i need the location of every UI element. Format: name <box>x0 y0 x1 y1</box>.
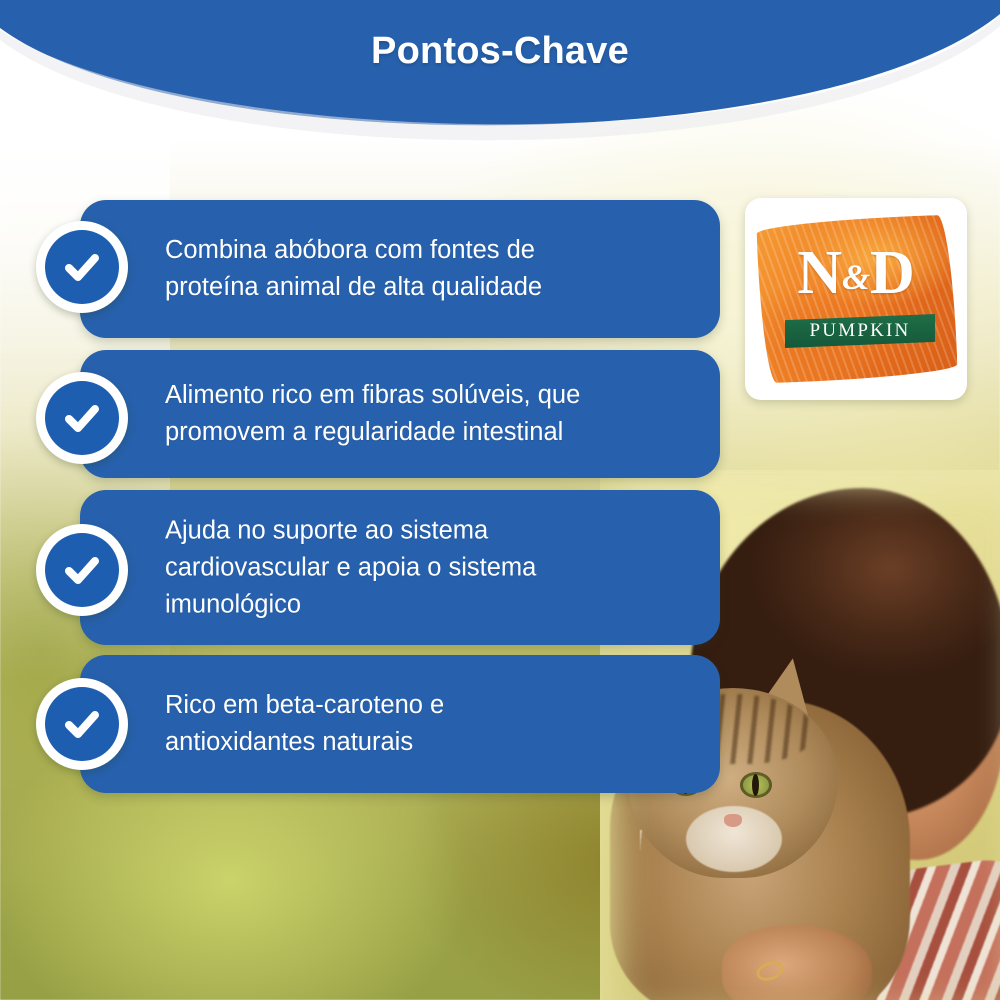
bullet-text-3: Ajuda no suporte ao sistema cardiovascul… <box>165 512 694 623</box>
photo-cat-pupil-right <box>752 774 759 796</box>
check-icon <box>36 524 128 616</box>
bullet-card-2[interactable]: Alimento rico em fibras solúveis, que pr… <box>80 350 720 478</box>
header-band <box>0 0 1000 150</box>
bullet-text-4: Rico em beta-caroteno e antioxidantes na… <box>165 687 694 761</box>
photo-cat-whiskers <box>640 830 860 920</box>
infographic-canvas: Pontos-Chave Combina abóbora com fontes … <box>0 0 1000 1000</box>
brand-wordmark: N&D <box>745 242 967 304</box>
check-icon <box>36 221 128 313</box>
check-icon <box>36 372 128 464</box>
bullet-text-1: Combina abóbora com fontes de proteína a… <box>165 232 694 306</box>
brand-letter-n: N <box>797 239 842 307</box>
check-icon-disc <box>45 381 119 455</box>
brand-ampersand: & <box>842 257 870 297</box>
brand-logo-card: N&D PUMPKIN <box>745 198 967 400</box>
pumpkin-banner-label: PUMPKIN <box>810 320 911 342</box>
check-icon-disc <box>45 687 119 761</box>
bullet-card-4[interactable]: Rico em beta-caroteno e antioxidantes na… <box>80 655 720 793</box>
bullet-card-1[interactable]: Combina abóbora com fontes de proteína a… <box>80 200 720 338</box>
page-title: Pontos-Chave <box>0 30 1000 73</box>
check-icon <box>36 678 128 770</box>
brand-logo-inner: N&D PUMPKIN <box>745 198 967 400</box>
photo-cat-nose <box>724 814 742 827</box>
check-icon-disc <box>45 230 119 304</box>
bullet-card-3[interactable]: Ajuda no suporte ao sistema cardiovascul… <box>80 490 720 645</box>
bullet-text-2: Alimento rico em fibras solúveis, que pr… <box>165 377 694 451</box>
check-icon-disc <box>45 533 119 607</box>
brand-letter-d: D <box>870 239 915 307</box>
